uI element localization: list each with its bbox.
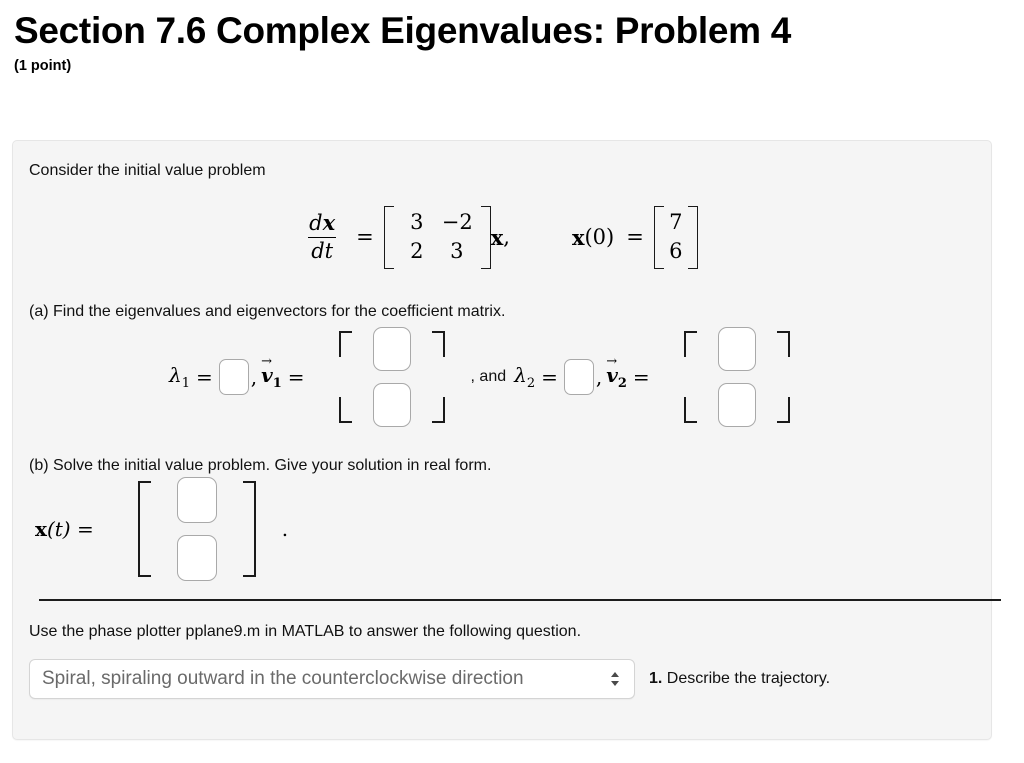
v1-left-bracket	[339, 331, 353, 423]
v1-equals: =	[288, 365, 305, 389]
xt-t-argument: (t)	[47, 517, 71, 541]
xt-left-bracket	[138, 481, 151, 577]
xt-period: .	[282, 517, 288, 541]
equation-comma: ,	[503, 225, 510, 249]
matrix-cell: 3	[437, 237, 477, 266]
lambda1-symbol: λ	[169, 363, 182, 387]
and-separator-text: , and	[471, 365, 507, 388]
matrix-cell: −2	[437, 208, 478, 237]
vector-cell: 7	[667, 208, 685, 237]
page-header: Section 7.6 Complex Eigenvalues: Problem…	[0, 0, 1024, 74]
part-a-answer-row: λ1 = , →v1 = , and λ2 = , →v2 =	[29, 327, 975, 427]
matrix-cells: 3 −2 2 3	[394, 206, 481, 269]
lambda1-equals: =	[196, 365, 213, 389]
v2-input-row2[interactable]	[718, 383, 756, 427]
matrix-left-bracket	[384, 206, 394, 269]
lambda2-comma: ,	[596, 365, 602, 389]
lambda1-comma: ,	[251, 365, 257, 389]
matrix-cell: 2	[397, 237, 437, 266]
lambda1-subscript: 1	[182, 376, 190, 391]
matrix-cell: 3	[397, 208, 437, 237]
lambda2-label: λ2	[514, 363, 535, 391]
v1-subscript: 1	[273, 376, 282, 391]
initial-condition-vector: 7 6	[654, 206, 698, 269]
v1-label: →v1	[261, 363, 282, 391]
xt-x-symbol: x	[35, 517, 47, 541]
vector-cell: 6	[667, 237, 685, 266]
vector-row: 6	[667, 237, 685, 266]
v1-cells	[353, 327, 431, 427]
matrix-row: 2 3	[397, 237, 478, 266]
trajectory-question: 1. Describe the trajectory.	[649, 670, 830, 688]
v2-right-bracket	[776, 331, 790, 423]
initial-value-problem-equation: dx dt = 3 −2 2 3 x ,	[29, 206, 975, 269]
coefficient-matrix: 3 −2 2 3	[384, 206, 491, 269]
fraction-numerator: dx	[306, 212, 338, 237]
v2-label: →v2	[606, 363, 627, 391]
v2-input-row1[interactable]	[718, 327, 756, 371]
v2-column-vector	[684, 327, 790, 427]
xt-input-row1[interactable]	[177, 477, 217, 523]
v1-input-row1[interactable]	[373, 327, 411, 371]
xt-cells	[151, 477, 243, 581]
initial-condition-equals: =	[626, 225, 644, 249]
trajectory-select-value: Spiral, spiraling outward in the counter…	[42, 668, 608, 690]
equation-x-vector-symbol: x	[491, 225, 504, 250]
numerator-x: x	[323, 210, 336, 235]
denominator-t: t	[325, 239, 333, 263]
v1-right-bracket	[431, 331, 445, 423]
v1-input-row2[interactable]	[373, 383, 411, 427]
v2-left-bracket	[684, 331, 698, 423]
equation-equals-sign: =	[356, 225, 374, 249]
section-divider	[39, 599, 1001, 601]
fraction-denominator: dt	[308, 237, 336, 263]
vector-right-bracket	[688, 206, 698, 269]
v2-subscript: 2	[618, 376, 627, 391]
dx-dt-fraction: dx dt	[306, 212, 338, 262]
v1-vector-arrow-icon: →	[261, 354, 272, 369]
matrix-row: 3 −2	[397, 208, 478, 237]
v1-column-vector	[339, 327, 445, 427]
lambda1-label: λ1	[169, 363, 190, 391]
trajectory-question-number: 1.	[649, 670, 662, 687]
xt-column-vector	[138, 477, 256, 581]
matrix-right-bracket	[481, 206, 491, 269]
part-b-prompt: (b) Solve the initial value problem. Giv…	[29, 457, 975, 475]
numerator-d: d	[309, 211, 322, 235]
lambda1-input[interactable]	[219, 359, 249, 395]
part-b-answer-row: x(t) = .	[29, 477, 975, 581]
denominator-d: d	[311, 239, 324, 263]
vector-left-bracket	[654, 206, 664, 269]
page-title: Section 7.6 Complex Eigenvalues: Problem…	[14, 12, 1024, 51]
v2-cells	[698, 327, 776, 427]
lambda2-subscript: 2	[527, 376, 535, 391]
v2-vector-arrow-icon: →	[606, 354, 617, 369]
part-a-prompt: (a) Find the eigenvalues and eigenvector…	[29, 303, 975, 321]
trajectory-question-text: Describe the trajectory.	[667, 670, 830, 687]
trajectory-answer-row: Spiral, spiraling outward in the counter…	[29, 659, 975, 699]
matlab-instruction-text: Use the phase plotter pplane9.m in MATLA…	[29, 623, 975, 641]
lambda2-equals: =	[541, 365, 558, 389]
xt-label: x(t) =	[35, 517, 94, 541]
lambda2-input[interactable]	[564, 359, 594, 395]
vector-row: 7	[667, 208, 685, 237]
vector-cells: 7 6	[664, 206, 688, 269]
v2-equals: =	[633, 365, 650, 389]
xt-right-bracket	[243, 481, 256, 577]
initial-condition-x: x	[572, 225, 585, 250]
points-label: (1 point)	[14, 58, 1024, 74]
xt-equals: =	[77, 517, 94, 541]
lambda2-symbol: λ	[514, 363, 527, 387]
trajectory-select[interactable]: Spiral, spiraling outward in the counter…	[29, 659, 635, 699]
problem-panel: Consider the initial value problem dx dt…	[12, 140, 992, 740]
xt-input-row2[interactable]	[177, 535, 217, 581]
problem-intro-text: Consider the initial value problem	[29, 159, 975, 182]
initial-condition-paren: (0)	[584, 225, 614, 249]
chevron-up-down-icon	[608, 669, 622, 689]
